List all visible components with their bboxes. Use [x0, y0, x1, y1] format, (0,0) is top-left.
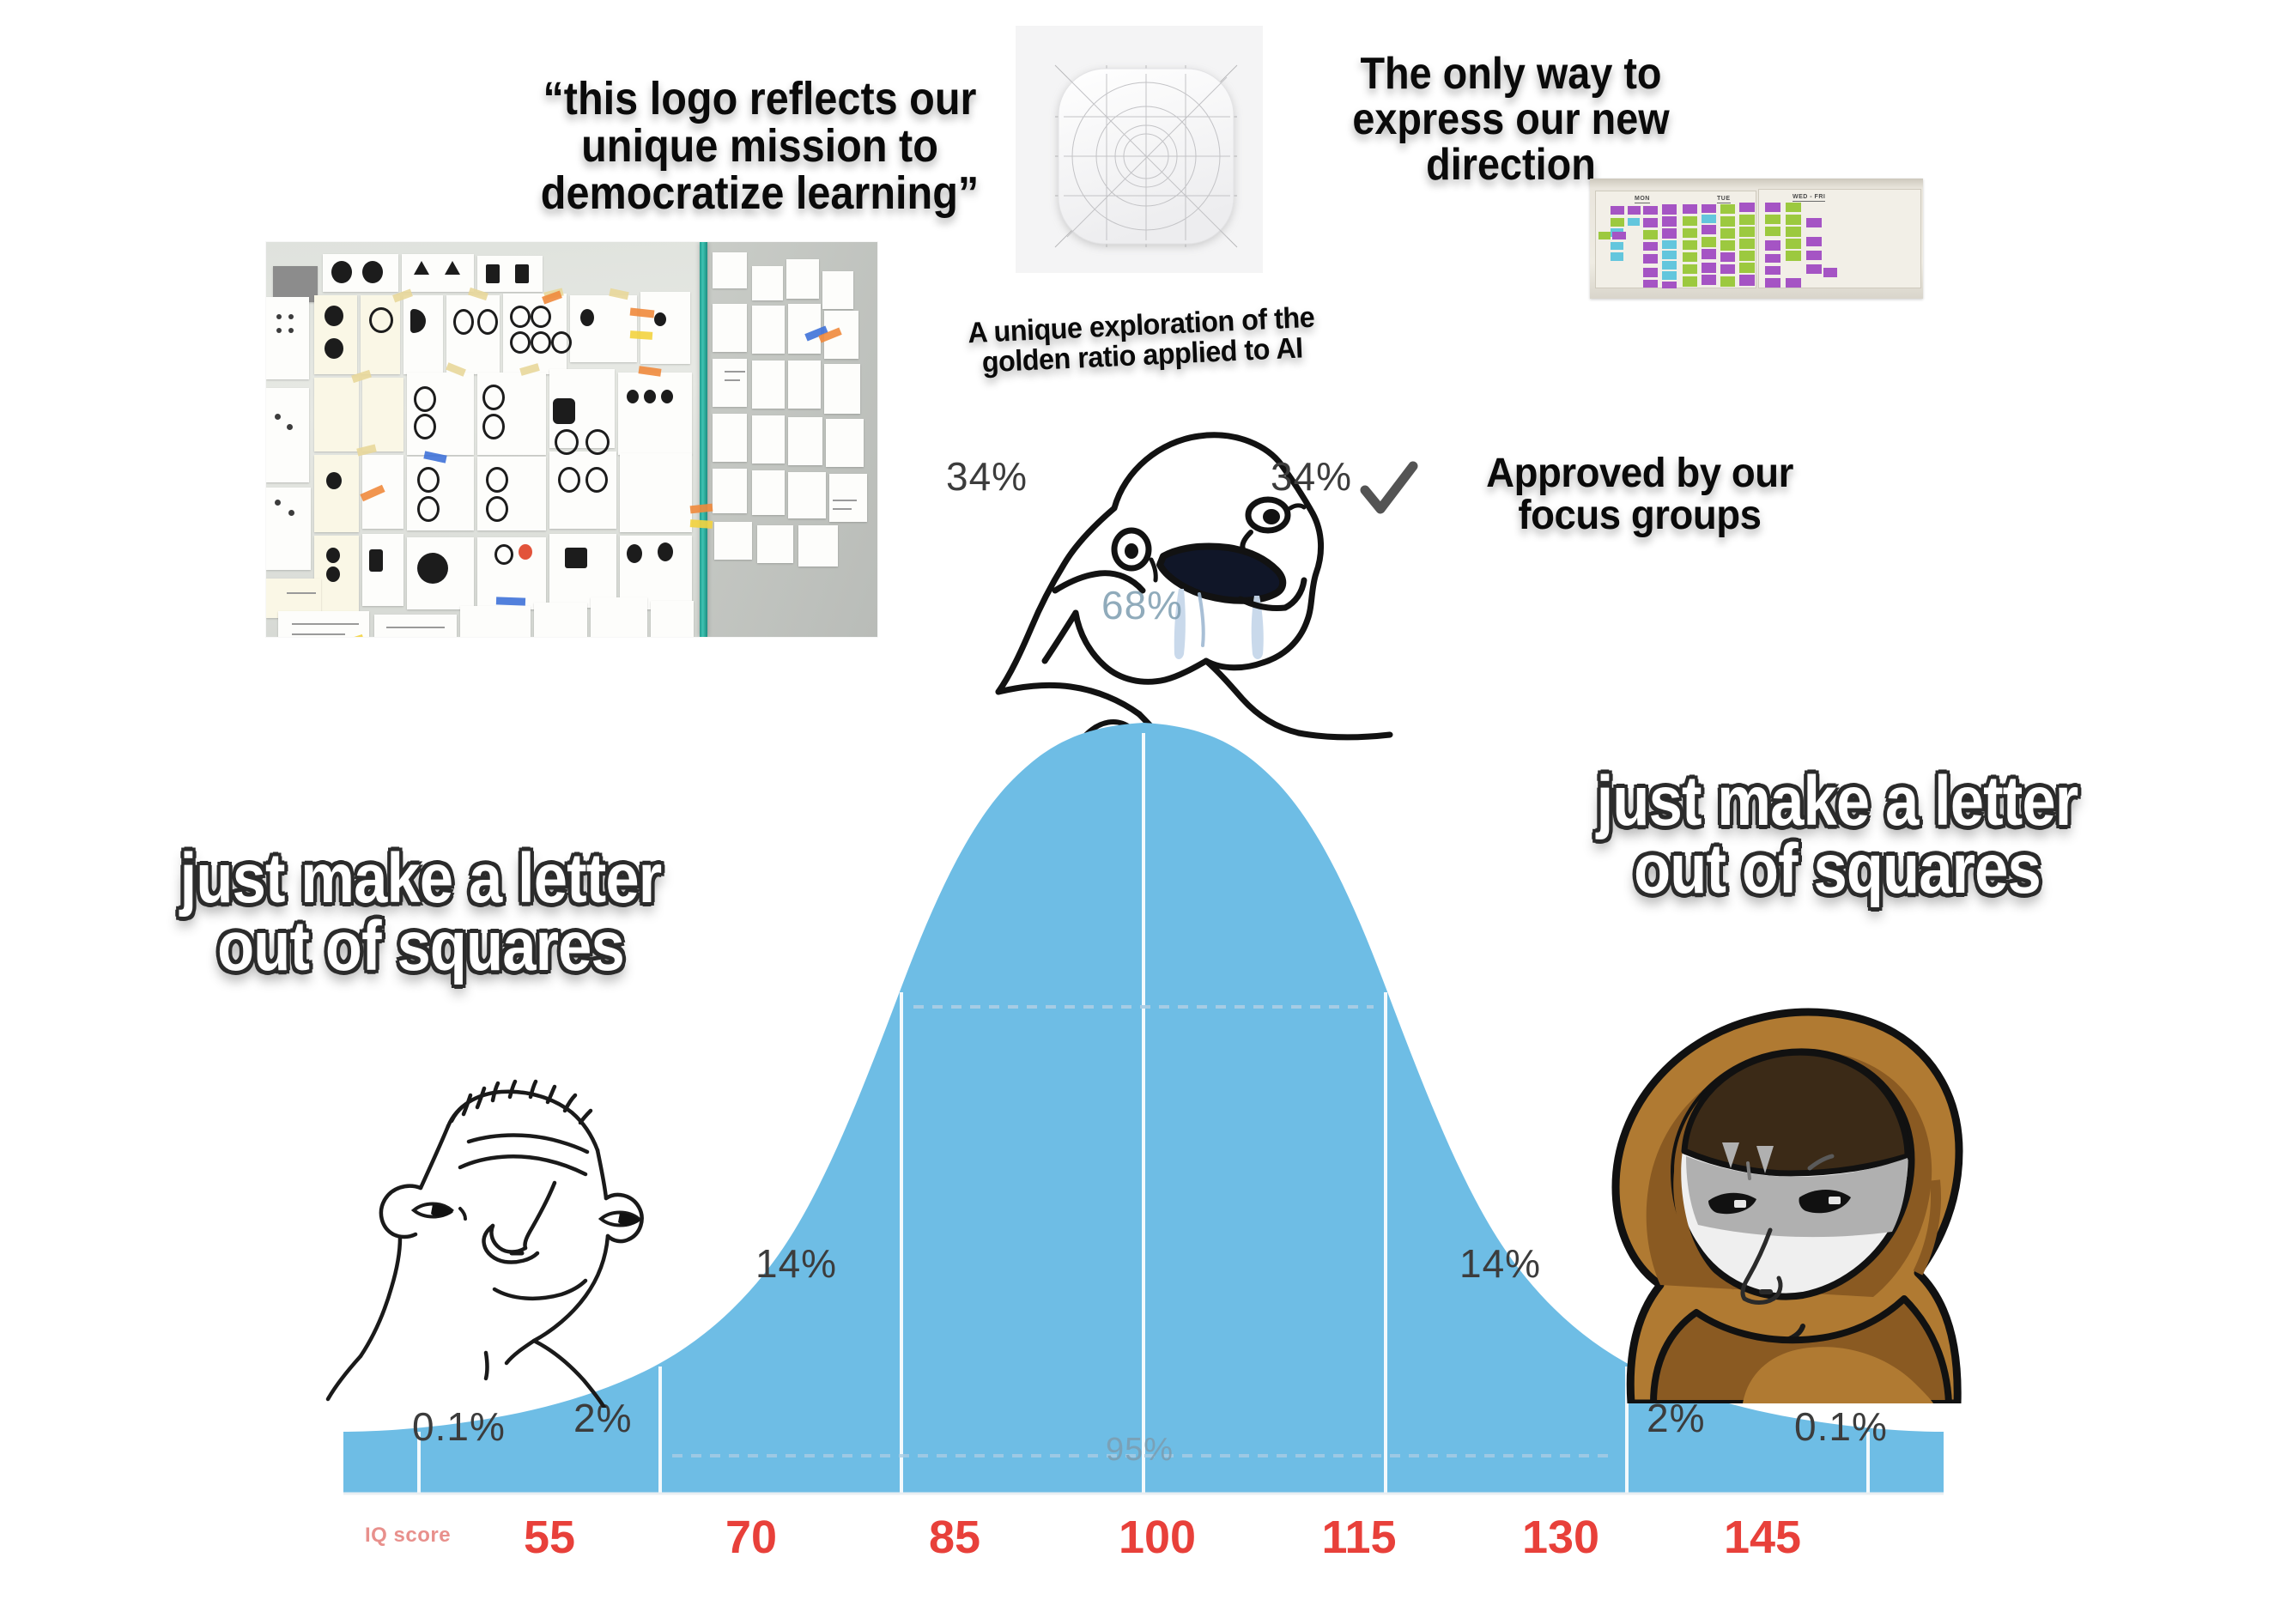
board-header-wed-fri: WED - FRI — [1793, 194, 1825, 200]
caption-approved-focus-groups: Approved by our focus groups — [1428, 453, 1852, 537]
sprint-board-photo: MON TUE WED - FRI — [1590, 179, 1923, 299]
axis-tick-130: 130 — [1522, 1511, 1599, 1564]
axis-tick-85: 85 — [929, 1511, 980, 1564]
pct-label-34-right: 34% — [1271, 453, 1352, 500]
app-icon-grid-template — [1016, 26, 1263, 273]
brainlet-wojak-drawing — [318, 1047, 678, 1408]
caption-golden-ratio: A unique exploration of the golden ratio… — [920, 300, 1362, 380]
axis-title-iq-score: IQ score — [365, 1524, 451, 1548]
pct-label-95: 95% — [1106, 1432, 1174, 1469]
axis-tick-115: 115 — [1321, 1511, 1396, 1564]
pct-label-34-left: 34% — [946, 453, 1028, 500]
pct-label-0p1-right: 0.1% — [1794, 1403, 1888, 1450]
meme-canvas: “this logo reflects our unique mission t… — [0, 0, 2287, 1620]
axis-tick-55: 55 — [524, 1511, 575, 1564]
board-header-tue: TUE — [1717, 196, 1731, 202]
pct-label-68: 68% — [1101, 582, 1183, 628]
doomer-girl-wojak-drawing — [1571, 957, 2035, 1403]
logo-sketch-wall-photo — [266, 242, 877, 637]
axis-tick-70: 70 — [725, 1511, 777, 1564]
caption-new-direction: The only way to express our new directio… — [1279, 52, 1743, 188]
axis-tick-100: 100 — [1119, 1511, 1196, 1564]
caption-logo-mission: “this logo reflects our unique mission t… — [509, 76, 1011, 217]
board-header-mon: MON — [1635, 196, 1650, 202]
approved-check-icon — [1358, 459, 1420, 521]
pct-label-0p1-left: 0.1% — [412, 1403, 506, 1450]
axis-tick-145: 145 — [1724, 1511, 1801, 1564]
pct-label-14-right: 14% — [1459, 1240, 1541, 1287]
pct-label-14-left: 14% — [755, 1240, 837, 1287]
